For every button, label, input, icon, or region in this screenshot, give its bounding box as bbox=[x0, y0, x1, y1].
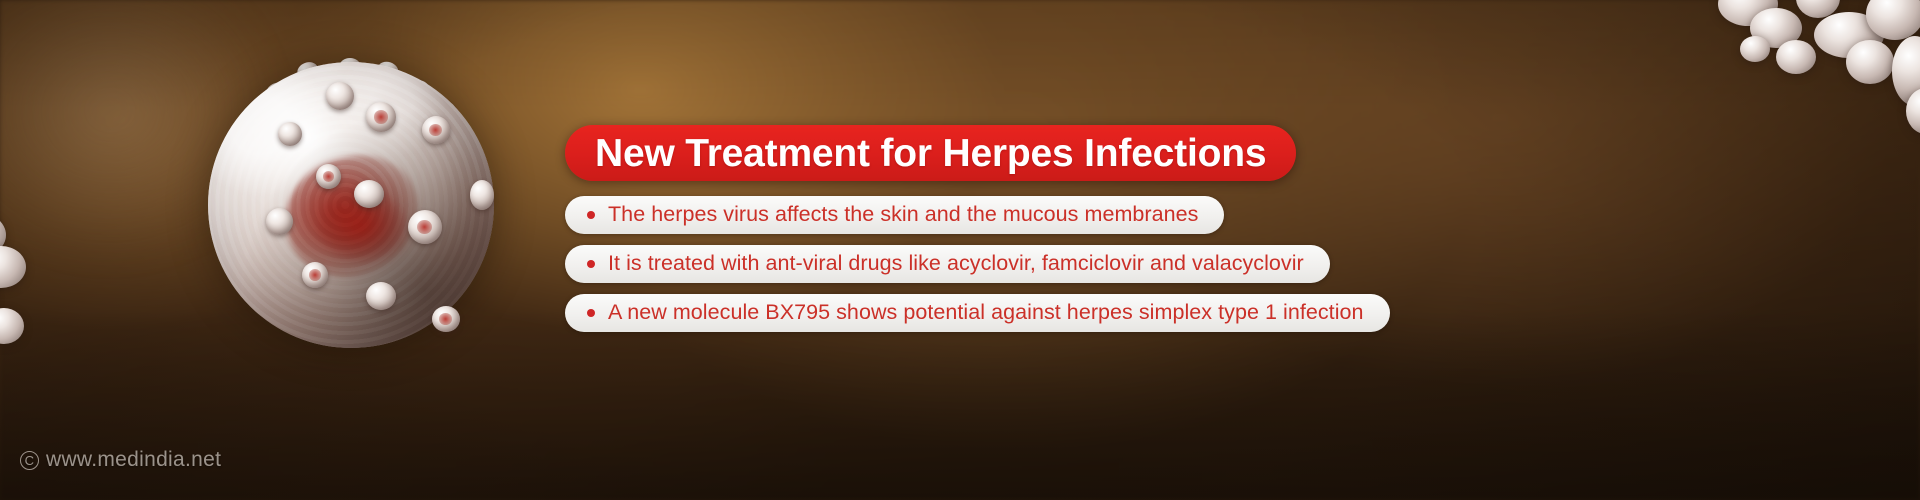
headline-pill: New Treatment for Herpes Infections bbox=[565, 125, 1296, 181]
virus-shading bbox=[208, 62, 494, 348]
bullet-text-1: The herpes virus affects the skin and th… bbox=[608, 204, 1198, 226]
copyright-icon: C bbox=[20, 451, 39, 470]
bullet-item-1: The herpes virus affects the skin and th… bbox=[565, 196, 1224, 234]
page-title: New Treatment for Herpes Infections bbox=[595, 134, 1266, 173]
bullet-dot-icon bbox=[587, 309, 595, 317]
bullet-dot-icon bbox=[587, 260, 595, 268]
watermark: C www.medindia.net bbox=[20, 448, 221, 472]
virus-illustration bbox=[150, 10, 550, 410]
health-infographic-banner: New Treatment for Herpes Infections The … bbox=[0, 0, 1920, 500]
bullet-text-3: A new molecule BX795 shows potential aga… bbox=[608, 302, 1364, 324]
bullet-item-3: A new molecule BX795 shows potential aga… bbox=[565, 294, 1390, 332]
watermark-text: www.medindia.net bbox=[46, 448, 221, 472]
bullet-list: The herpes virus affects the skin and th… bbox=[565, 196, 1390, 332]
bullet-item-2: It is treated with ant-viral drugs like … bbox=[565, 245, 1330, 283]
bullet-dot-icon bbox=[587, 211, 595, 219]
bullet-text-2: It is treated with ant-viral drugs like … bbox=[608, 253, 1304, 275]
